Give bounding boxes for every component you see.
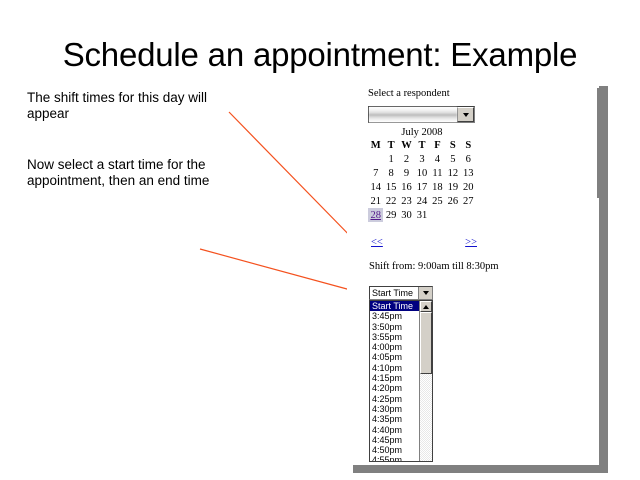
calendar-day[interactable]: 29 bbox=[383, 208, 398, 222]
start-time-option[interactable]: 4:15pm bbox=[370, 373, 419, 383]
calendar-day[interactable]: 17 bbox=[414, 180, 429, 194]
calendar-month-label: July 2008 bbox=[368, 127, 476, 139]
callout-shift-times: The shift times for this day will appear bbox=[27, 90, 242, 122]
calendar-day[interactable]: 22 bbox=[383, 194, 398, 208]
chevron-down-icon[interactable] bbox=[457, 107, 474, 122]
calendar-prev-link[interactable]: << bbox=[371, 237, 383, 248]
calendar-day[interactable]: 27 bbox=[461, 194, 476, 208]
calendar-day[interactable]: 11 bbox=[430, 166, 445, 180]
calendar-day[interactable]: 16 bbox=[399, 180, 414, 194]
start-time-option[interactable]: 4:50pm bbox=[370, 445, 419, 455]
start-time-option[interactable]: 4:25pm bbox=[370, 394, 419, 404]
calendar-next-link[interactable]: >> bbox=[465, 237, 477, 248]
calendar-weekday-3: T bbox=[414, 139, 429, 152]
calendar-day[interactable]: 19 bbox=[445, 180, 460, 194]
calendar-day[interactable]: 13 bbox=[461, 166, 476, 180]
calendar-day[interactable]: 2 bbox=[399, 152, 414, 166]
calendar-day-link[interactable]: 28 bbox=[370, 210, 381, 221]
start-time-select-value: Start Time bbox=[370, 287, 418, 299]
start-time-list-scrollbar[interactable] bbox=[419, 301, 432, 461]
chevron-down-glyph bbox=[423, 291, 429, 295]
scrollbar-track[interactable] bbox=[420, 374, 432, 461]
calendar-day[interactable]: 10 bbox=[414, 166, 429, 180]
start-time-option[interactable]: 4:45pm bbox=[370, 435, 419, 445]
calendar-grid: MTWTFSS 12345678910111213141516171819202… bbox=[368, 139, 476, 222]
start-time-options: Start Time3:45pm3:50pm3:55pm4:00pm4:05pm… bbox=[370, 301, 419, 461]
calendar-weekday-0: M bbox=[368, 139, 383, 152]
start-time-option[interactable]: 4:30pm bbox=[370, 404, 419, 414]
calendar-day[interactable]: 21 bbox=[368, 194, 383, 208]
start-time-option[interactable]: 3:55pm bbox=[370, 332, 419, 342]
start-time-option[interactable]: 4:05pm bbox=[370, 352, 419, 362]
calendar-weekday-4: F bbox=[430, 139, 445, 152]
calendar-day[interactable]: 14 bbox=[368, 180, 383, 194]
calendar-week-row: 21222324252627 bbox=[368, 194, 476, 208]
panel-shadow-bottom bbox=[353, 465, 608, 473]
chevron-down-icon[interactable] bbox=[418, 287, 432, 299]
calendar-header-row: MTWTFSS bbox=[368, 139, 476, 152]
respondent-label: Select a respondent bbox=[368, 88, 450, 99]
calendar-widget: July 2008 MTWTFSS 1234567891011121314151… bbox=[368, 127, 476, 222]
start-time-option[interactable]: 4:40pm bbox=[370, 425, 419, 435]
calendar-day[interactable]: 20 bbox=[461, 180, 476, 194]
calendar-week-row: 14151617181920 bbox=[368, 180, 476, 194]
start-time-option[interactable]: 3:45pm bbox=[370, 311, 419, 321]
calendar-weekday-2: W bbox=[399, 139, 414, 152]
chevron-down-glyph bbox=[463, 113, 469, 117]
calendar-day[interactable]: 25 bbox=[430, 194, 445, 208]
callout-select-start-time: Now select a start time for the appointm… bbox=[27, 157, 237, 189]
chevron-up-glyph bbox=[423, 305, 429, 309]
calendar-day[interactable]: 31 bbox=[414, 208, 429, 222]
start-time-option[interactable]: 4:35pm bbox=[370, 414, 419, 424]
calendar-day-empty bbox=[430, 208, 445, 222]
respondent-select[interactable] bbox=[368, 106, 475, 123]
calendar-week-row: 28293031 bbox=[368, 208, 476, 222]
calendar-day[interactable]: 9 bbox=[399, 166, 414, 180]
calendar-day[interactable]: 23 bbox=[399, 194, 414, 208]
calendar-day-empty bbox=[461, 208, 476, 222]
chevron-up-icon[interactable] bbox=[420, 301, 432, 312]
calendar-day[interactable]: 3 bbox=[414, 152, 429, 166]
start-time-option[interactable]: 4:00pm bbox=[370, 342, 419, 352]
start-time-option[interactable]: 4:10pm bbox=[370, 363, 419, 373]
calendar-week-row: 123456 bbox=[368, 152, 476, 166]
start-time-option-selected[interactable]: Start Time bbox=[370, 301, 419, 311]
calendar-day[interactable]: 18 bbox=[430, 180, 445, 194]
scrollbar-thumb[interactable] bbox=[420, 312, 432, 374]
start-time-option-list[interactable]: Start Time3:45pm3:50pm3:55pm4:00pm4:05pm… bbox=[369, 300, 433, 462]
calendar-day[interactable]: 30 bbox=[399, 208, 414, 222]
respondent-select-value bbox=[369, 107, 457, 122]
start-time-option[interactable]: 4:20pm bbox=[370, 383, 419, 393]
calendar-day[interactable]: 12 bbox=[445, 166, 460, 180]
page-scrollbar-bar bbox=[597, 88, 607, 198]
calendar-day-empty bbox=[445, 208, 460, 222]
calendar-day[interactable]: 15 bbox=[383, 180, 398, 194]
calendar-weekday-6: S bbox=[461, 139, 476, 152]
calendar-day[interactable]: 24 bbox=[414, 194, 429, 208]
calendar-day[interactable]: 26 bbox=[445, 194, 460, 208]
start-time-option[interactable]: 3:50pm bbox=[370, 322, 419, 332]
start-time-option[interactable]: 4:55pm bbox=[370, 455, 419, 461]
shift-hours-text: Shift from: 9:00am till 8:30pm bbox=[369, 261, 499, 272]
calendar-day[interactable]: 4 bbox=[430, 152, 445, 166]
calendar-day[interactable]: 8 bbox=[383, 166, 398, 180]
calendar-day[interactable]: 5 bbox=[445, 152, 460, 166]
arrow-to-start-time bbox=[200, 249, 358, 292]
calendar-day[interactable]: 6 bbox=[461, 152, 476, 166]
calendar-weekday-5: S bbox=[445, 139, 460, 152]
page-title: Schedule an appointment: Example bbox=[0, 36, 640, 74]
arrow-to-calendar bbox=[229, 112, 358, 244]
calendar-week-row: 78910111213 bbox=[368, 166, 476, 180]
start-time-select[interactable]: Start Time bbox=[369, 286, 433, 300]
calendar-day[interactable]: 7 bbox=[368, 166, 383, 180]
calendar-day-selected[interactable]: 28 bbox=[368, 208, 383, 222]
calendar-day[interactable]: 1 bbox=[383, 152, 398, 166]
calendar-day-empty bbox=[368, 152, 383, 166]
calendar-weekday-1: T bbox=[383, 139, 398, 152]
